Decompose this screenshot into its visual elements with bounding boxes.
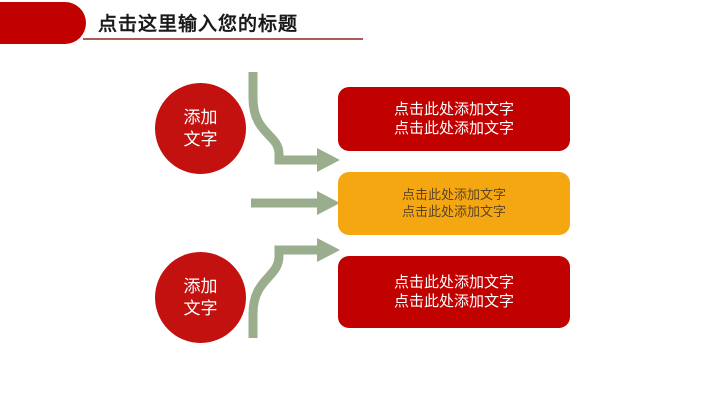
slide-canvas: 点击这里输入您的标题 添加 文字 添加 文字 点击此处添加文字 点击此处添加文字…	[0, 0, 721, 405]
circle-top-line-2: 文字	[184, 129, 218, 151]
box-2-line-2: 点击此处添加文字	[402, 204, 506, 221]
box-2-line-1: 点击此处添加文字	[402, 187, 506, 204]
circle-bottom-line-2: 文字	[184, 298, 218, 320]
arrow-curved-down-right-icon	[245, 72, 350, 177]
circle-label-bottom[interactable]: 添加 文字	[155, 252, 246, 343]
box-1-line-1: 点击此处添加文字	[394, 100, 514, 120]
header-accent-tab	[0, 2, 86, 44]
content-box-3[interactable]: 点击此处添加文字 点击此处添加文字	[338, 256, 570, 328]
arrow-straight-right-icon	[245, 188, 350, 218]
content-box-2[interactable]: 点击此处添加文字 点击此处添加文字	[338, 172, 570, 235]
page-title: 点击这里输入您的标题	[98, 9, 298, 36]
circle-top-line-1: 添加	[184, 107, 218, 129]
arrow-curved-up-right-icon	[245, 228, 350, 338]
box-1-line-2: 点击此处添加文字	[394, 119, 514, 139]
content-box-1[interactable]: 点击此处添加文字 点击此处添加文字	[338, 87, 570, 151]
box-3-line-2: 点击此处添加文字	[394, 292, 514, 312]
circle-label-top[interactable]: 添加 文字	[155, 83, 246, 174]
box-3-line-1: 点击此处添加文字	[394, 273, 514, 293]
circle-bottom-line-1: 添加	[184, 276, 218, 298]
header-underline	[83, 38, 363, 40]
